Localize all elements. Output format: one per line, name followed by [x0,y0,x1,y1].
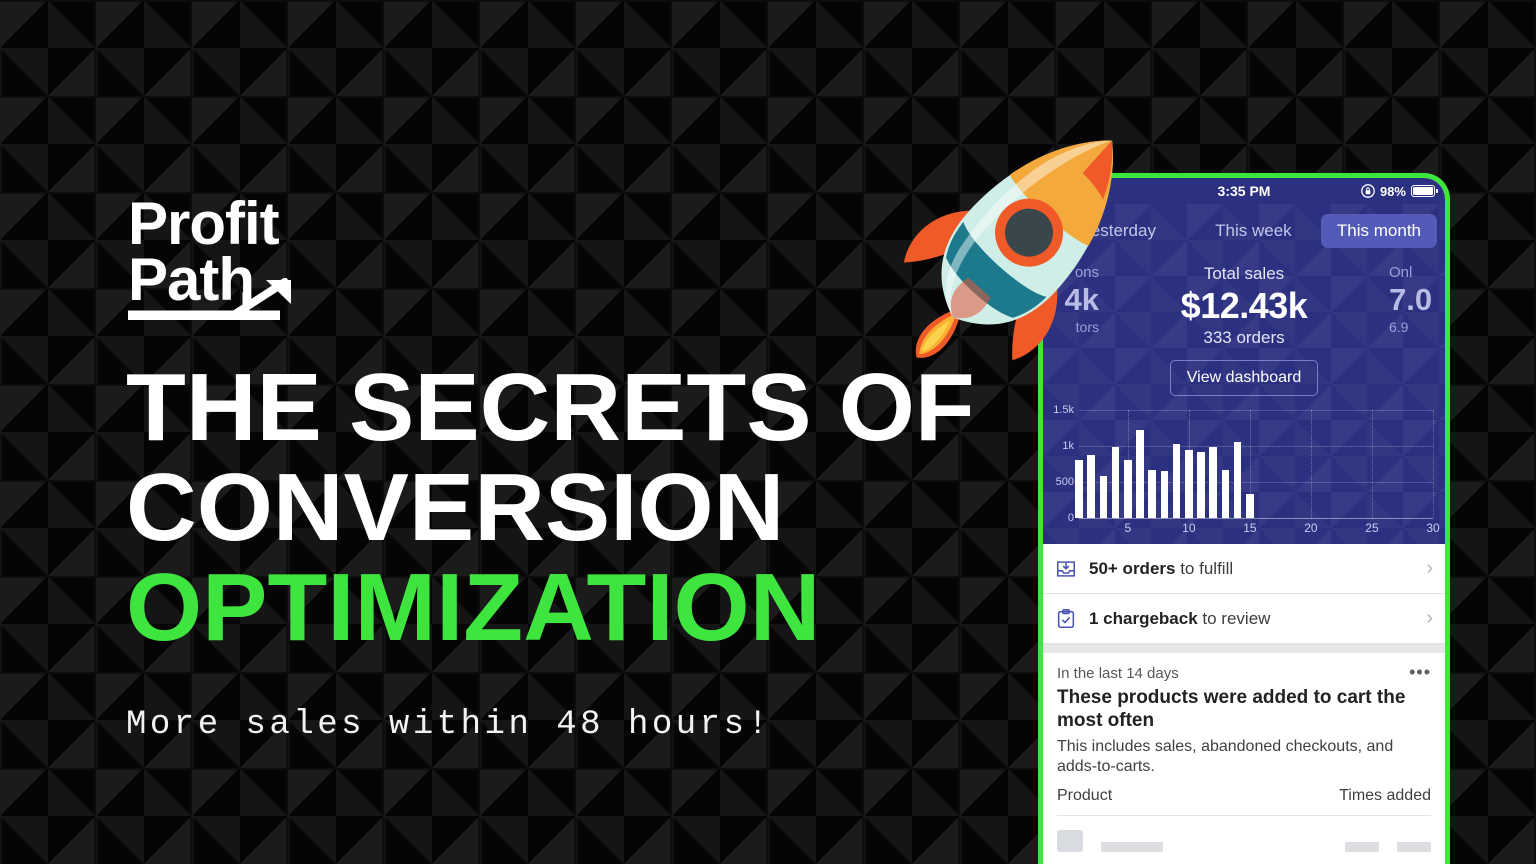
insight-card: ••• In the last 14 days These products w… [1043,653,1445,852]
sales-bar-chart: 1.5k1k5000 51015202530 [1043,410,1445,540]
chart-bar [1148,470,1156,518]
page-title: THE SECRETS OF CONVERSION OPTIMIZATION [126,358,1006,658]
y-tick-label: 0 [1068,512,1074,524]
chart-x-axis: 51015202530 [1079,519,1433,539]
status-right-cluster: 98% [1361,184,1435,199]
logo-line-1: Profit [128,196,458,252]
tab-this-month[interactable]: This month [1321,214,1437,248]
x-tick-label: 5 [1124,521,1131,535]
y-tick-label: 1.5k [1053,404,1074,416]
product-name-placeholder [1101,842,1163,852]
section-divider [1043,644,1445,653]
y-tick-label: 1k [1062,440,1074,452]
chart-bar [1197,452,1205,518]
battery-icon [1411,185,1435,197]
insight-title: These products were added to cart the mo… [1057,686,1431,732]
x-tick-label: 15 [1243,521,1256,535]
y-tick-label: 500 [1056,476,1074,488]
metric-next-partial[interactable]: Onl 7.0 6.9 [1389,264,1445,335]
chart-bar [1112,447,1120,518]
chart-bar [1222,470,1230,518]
x-tick-label: 25 [1365,521,1378,535]
metric-next-label: Onl [1389,264,1445,281]
chart-bar [1185,450,1193,518]
chart-bar [1173,444,1181,518]
list-item-label: 1 chargeback to review [1089,609,1414,629]
product-thumbnail [1057,830,1083,852]
promo-banner: Profit Path THE SECRETS OF CONVERSION OP… [0,0,1536,864]
insight-kicker: In the last 14 days [1057,665,1431,682]
list-item[interactable]: 1 chargeback to review › [1043,594,1445,644]
growth-arrow-icon [128,278,298,320]
x-tick-label: 20 [1304,521,1317,535]
metric-next-value: 7.0 [1389,281,1445,319]
brand-logo: Profit Path [128,196,458,308]
chart-bar [1075,460,1083,518]
list-item[interactable]: 50+ orders to fulfill › [1043,544,1445,594]
column-times-added: Times added [1339,787,1431,805]
chevron-right-icon[interactable]: › [1426,607,1433,630]
chart-bar [1100,476,1108,518]
view-dashboard-button[interactable]: View dashboard [1170,360,1318,396]
metric-next-sub: 6.9 [1389,319,1445,335]
list-item-label: 50+ orders to fulfill [1089,559,1414,579]
chart-bar [1234,442,1242,518]
clipboard-check-icon [1055,608,1077,630]
x-tick-label: 10 [1182,521,1195,535]
chargeback-suffix: to review [1198,609,1271,628]
column-product: Product [1057,787,1112,805]
insight-table-header: Product Times added [1057,787,1431,816]
chargeback-count: 1 chargeback [1089,609,1198,628]
chart-bar [1161,471,1169,518]
battery-percent: 98% [1380,184,1406,199]
chart-bar [1246,494,1254,518]
rocket-illustration [876,96,1158,396]
x-gridline [1433,410,1435,518]
headline-line-3-accent: OPTIMIZATION [126,558,1024,658]
times-added-placeholder [1345,842,1379,852]
orders-count: 50+ orders [1089,559,1175,578]
table-row[interactable] [1057,816,1431,852]
subtitle: More sales within 48 hours! [126,706,771,744]
x-tick-label: 30 [1426,521,1439,535]
tab-this-week[interactable]: This week [1186,214,1321,248]
insight-description: This includes sales, abandoned checkouts… [1057,737,1431,777]
ellipsis-icon[interactable]: ••• [1409,665,1431,679]
chart-bar [1209,447,1217,518]
chart-bar [1124,460,1132,518]
chart-bars [1079,410,1433,518]
chevron-right-icon[interactable]: › [1426,557,1433,580]
times-added-placeholder-2 [1397,842,1431,852]
status-time: 3:35 PM [1218,183,1271,199]
orders-suffix: to fulfill [1175,559,1233,578]
rotation-lock-icon [1361,184,1375,198]
headline-line-2: CONVERSION [126,458,1024,558]
chart-bar [1087,455,1095,518]
chart-bar [1136,430,1144,518]
inbox-download-icon [1055,558,1077,580]
chart-plot-area: 1.5k1k5000 [1079,410,1433,519]
